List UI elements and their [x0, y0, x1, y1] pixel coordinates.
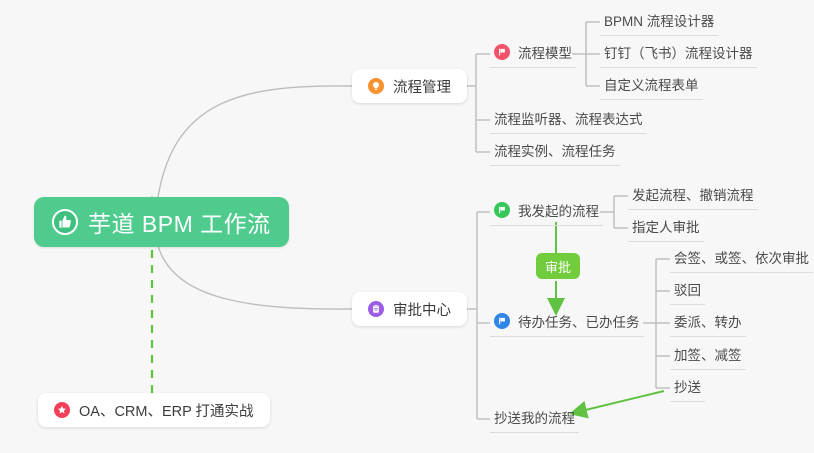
leaf-countersign-orsign-sequential[interactable]: 会签、或签、依次审批 — [670, 245, 813, 273]
node-label: 抄送我的流程 — [494, 407, 575, 427]
node-label: 抄送 — [674, 376, 701, 396]
leaf-dingtalk-feishu-designer[interactable]: 钉钉（飞书）流程设计器 — [600, 40, 757, 68]
flag-icon — [494, 313, 510, 329]
node-label: 流程监听器、流程表达式 — [494, 108, 643, 128]
node-todo-done-tasks[interactable]: 待办任务、已办任务 — [490, 309, 644, 337]
annotation-label: 审批 — [545, 257, 571, 276]
node-my-started-processes[interactable]: 我发起的流程 — [490, 198, 603, 226]
leaf-delegate-transfer[interactable]: 委派、转办 — [670, 309, 746, 337]
branch-label: 流程管理 — [393, 76, 451, 97]
node-label: 流程模型 — [518, 42, 572, 62]
node-label: 我发起的流程 — [518, 200, 599, 220]
node-label: 委派、转办 — [674, 311, 742, 331]
node-label: 流程实例、流程任务 — [494, 140, 616, 160]
branch-node-process-management[interactable]: 流程管理 — [352, 69, 467, 103]
leaf-process-listener-expression[interactable]: 流程监听器、流程表达式 — [490, 106, 647, 134]
lightbulb-icon — [368, 78, 384, 94]
leaf-carbon-copy[interactable]: 抄送 — [670, 374, 705, 402]
branch-node-approval-center[interactable]: 审批中心 — [352, 292, 467, 326]
thumbs-up-icon — [52, 209, 78, 235]
root-node[interactable]: 芋道 BPM 工作流 — [34, 197, 289, 247]
mindmap-canvas: 芋道 BPM 工作流 流程管理 流程模型 BPMN 流程设计器 钉钉（飞书）流程… — [0, 0, 814, 453]
leaf-cc-to-me-processes[interactable]: 抄送我的流程 — [490, 405, 579, 433]
leaf-assignee-approval[interactable]: 指定人审批 — [628, 214, 704, 242]
node-label: 发起流程、撤销流程 — [632, 184, 754, 204]
node-label: 待办任务、已办任务 — [518, 311, 640, 331]
leaf-custom-process-form[interactable]: 自定义流程表单 — [600, 72, 703, 100]
node-label: BPMN 流程设计器 — [604, 10, 714, 30]
node-process-model[interactable]: 流程模型 — [490, 40, 576, 68]
star-icon — [54, 402, 70, 418]
node-label: 加签、减签 — [674, 344, 742, 364]
leaf-process-instance-task[interactable]: 流程实例、流程任务 — [490, 138, 620, 166]
root-label: 芋道 BPM 工作流 — [88, 205, 271, 239]
annotation-approval-chip: 审批 — [536, 253, 580, 279]
node-label: 钉钉（飞书）流程设计器 — [604, 42, 753, 62]
flag-icon — [494, 202, 510, 218]
node-label: 会签、或签、依次审批 — [674, 247, 809, 267]
branch-label: 审批中心 — [393, 299, 451, 320]
node-label: 指定人审批 — [632, 216, 700, 236]
callout-label: OA、CRM、ERP 打通实战 — [79, 400, 254, 421]
leaf-add-remove-sign[interactable]: 加签、减签 — [670, 342, 746, 370]
clipboard-icon — [368, 301, 384, 317]
leaf-start-cancel-process[interactable]: 发起流程、撤销流程 — [628, 182, 758, 210]
flag-icon — [494, 44, 510, 60]
callout-integration-practice[interactable]: OA、CRM、ERP 打通实战 — [38, 393, 270, 427]
node-label: 驳回 — [674, 279, 701, 299]
leaf-reject[interactable]: 驳回 — [670, 277, 705, 305]
leaf-bpmn-designer[interactable]: BPMN 流程设计器 — [600, 8, 718, 36]
node-label: 自定义流程表单 — [604, 74, 699, 94]
